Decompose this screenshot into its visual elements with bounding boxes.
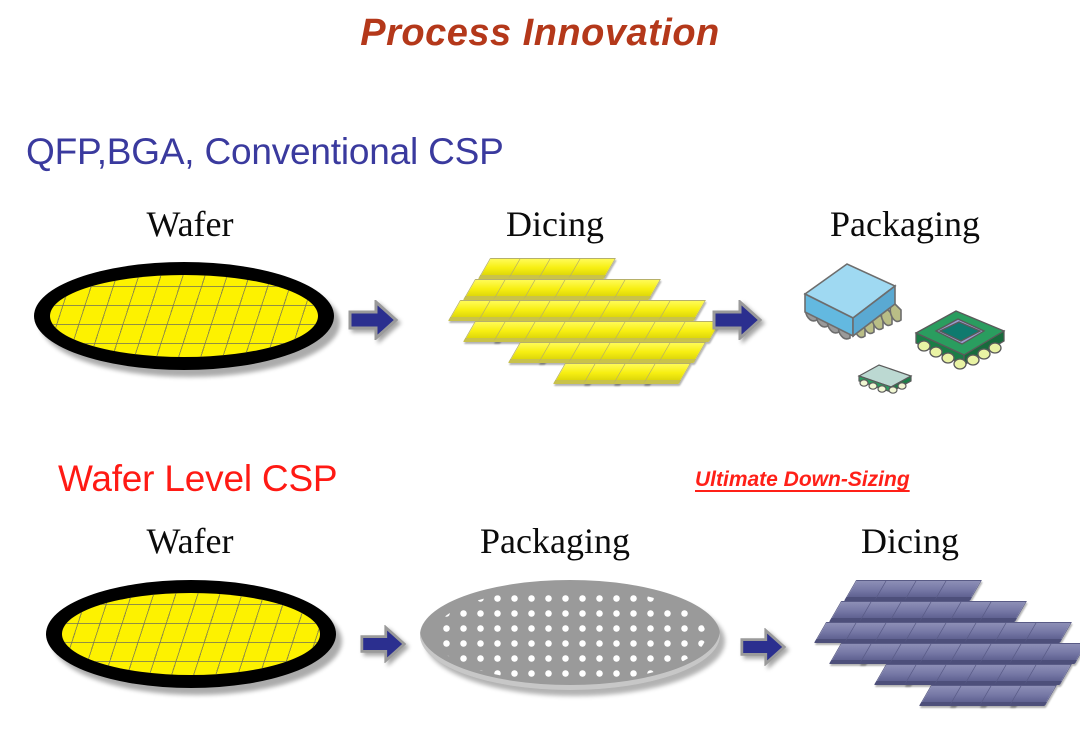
stage-label-dicing-conventional: Dicing — [440, 203, 670, 245]
wafer-surface — [50, 275, 318, 357]
right-arrow-icon — [740, 628, 786, 671]
die-array-purple — [790, 580, 1060, 710]
wafer-graphic-conventional — [34, 262, 334, 370]
section-heading-conventional: QFP,BGA, Conventional CSP — [26, 131, 504, 173]
callout-ultimate-down-sizing: Ultimate Down-Sizing — [695, 468, 910, 492]
wafer-grid-pattern — [50, 275, 318, 357]
right-arrow-icon — [360, 625, 406, 668]
solder-bump-array — [434, 588, 706, 682]
bumped-wafer-graphic — [420, 580, 720, 690]
stage-label-dicing-wlcsp: Dicing — [810, 520, 1010, 562]
section-heading-wafer-level-csp: Wafer Level CSP — [58, 458, 337, 500]
qfp-package-icon — [795, 252, 905, 357]
page-title: Process Innovation — [0, 12, 1080, 55]
bga-package-icon — [910, 305, 1010, 380]
wafer-graphic-wlcsp — [46, 580, 336, 688]
wafer-grid-pattern — [62, 593, 320, 675]
right-arrow-icon — [712, 300, 762, 345]
die-array-yellow — [424, 258, 694, 388]
stage-label-packaging-wlcsp: Packaging — [430, 520, 680, 562]
wafer-surface — [62, 593, 320, 675]
stage-label-wafer-conventional: Wafer — [60, 203, 320, 245]
csp-package-icon — [855, 360, 917, 405]
stage-label-wafer-wlcsp: Wafer — [60, 520, 320, 562]
right-arrow-icon — [348, 300, 398, 345]
stage-label-packaging-conventional: Packaging — [790, 203, 1020, 245]
